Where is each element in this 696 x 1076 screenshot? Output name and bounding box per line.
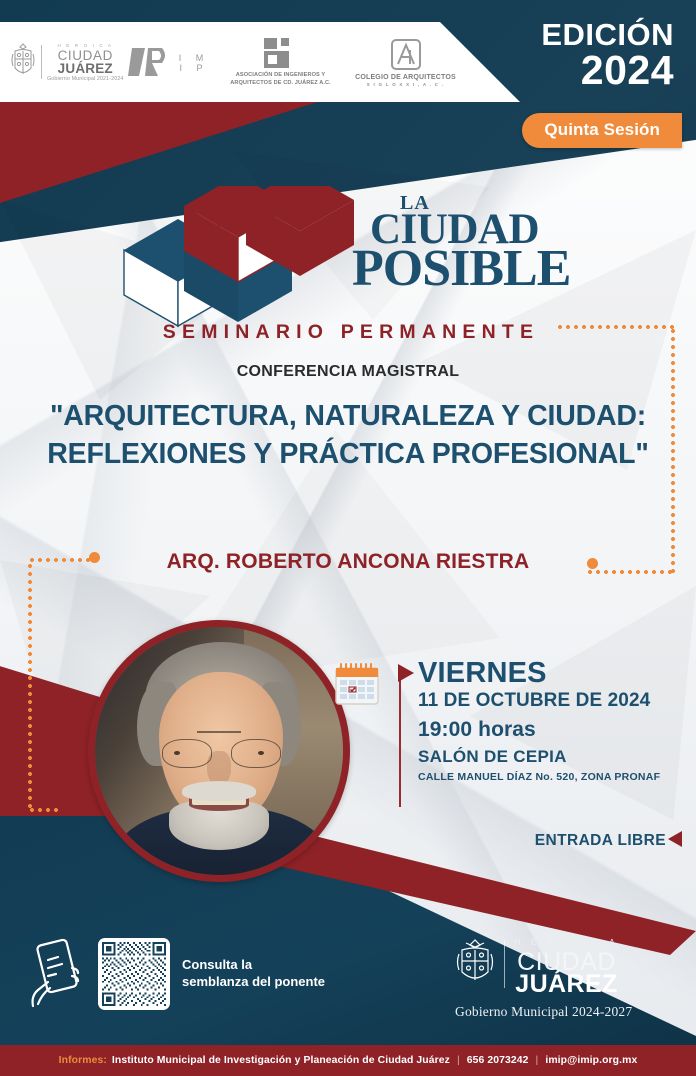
event-time: 19:00 horas — [418, 718, 660, 742]
admission-label: ENTRADA LIBRE — [535, 832, 666, 850]
event-day: VIERNES — [418, 658, 660, 688]
contact-phone[interactable]: 656 2073242 — [467, 1055, 529, 1066]
event-venue: SALÓN DE CEPIA — [418, 747, 660, 767]
partner-logos: H E R O I C A CIUDAD JUÁREZ Gobierno Mun… — [0, 22, 470, 102]
conference-title: "ARQUITECTURA, NATURALEZA Y CIUDAD: REFL… — [40, 398, 656, 474]
logo-divider — [41, 45, 42, 79]
footer-juarez-label: JUÁREZ — [514, 972, 618, 997]
details-vertical-rule — [399, 672, 401, 807]
logo-asociacion-line2: ARQUITECTOS DE CD. JUÁREZ A.C. — [230, 80, 331, 86]
logo-asociacion-line1: ASOCIACIÓN DE INGENIEROS Y — [236, 72, 326, 78]
footer-gobierno-label: Gobierno Municipal 2024-2027 — [455, 1004, 632, 1020]
logo-imip: I M I P — [128, 45, 213, 79]
cubes-logo-icon — [118, 186, 368, 331]
logo-gobierno-juarez: H E R O I C A CIUDAD JUÁREZ Gobierno Mun… — [10, 42, 128, 83]
city-crest-icon — [10, 42, 36, 82]
dot-marker-right — [587, 558, 598, 569]
organization-name: Instituto Municipal de Investigación y P… — [112, 1055, 450, 1066]
brand-wordmark: LA CIUDAD POSIBLE — [370, 192, 570, 292]
colegio-mark-icon — [390, 38, 422, 71]
separator: | — [536, 1055, 539, 1066]
hand-holding-phone-icon — [28, 938, 86, 1010]
contact-bar: Informes: Instituto Municipal de Investi… — [0, 1045, 696, 1076]
dotted-line-left-vertical — [28, 562, 32, 812]
imip-mark-icon — [128, 45, 170, 79]
qr-caption: Consulta la semblanza del ponente — [182, 957, 325, 990]
calendar-icon — [334, 662, 380, 706]
logo-colegio-line1: COLEGIO DE ARQUITECTOS — [355, 74, 456, 81]
footer-heroica-label: H E R O I C A — [514, 938, 618, 947]
logo-imip-letters: I M I P — [170, 53, 213, 73]
contact-email[interactable]: imip@imip.org.mx — [545, 1055, 637, 1066]
qr-code-icon — [102, 942, 166, 1006]
triangle-marker-icon — [398, 664, 416, 686]
dot-marker-left — [89, 552, 100, 563]
session-badge[interactable]: Quinta Sesión — [522, 113, 682, 148]
event-date: 11 DE OCTUBRE DE 2024 — [418, 690, 660, 712]
logo-colegio-arquitectos: COLEGIO DE ARQUITECTOS S I G L O X X I ,… — [348, 38, 463, 87]
logo-asociacion-ingenieros: ASOCIACIÓN DE INGENIEROS Y ARQUITECTOS D… — [213, 37, 348, 87]
event-address: CALLE MANUEL DÍAZ No. 520, ZONA PRONAF — [418, 771, 660, 783]
brand-posible: POSIBLE — [352, 246, 570, 293]
logo-asociacion-text: ASOCIACIÓN DE INGENIEROS Y ARQUITECTOS D… — [230, 72, 331, 87]
qr-code[interactable] — [98, 938, 170, 1010]
qr-caption-line2: semblanza del ponente — [182, 974, 325, 989]
event-details: VIERNES 11 DE OCTUBRE DE 2024 19:00 hora… — [418, 658, 660, 783]
footer-government-logo: H E R O I C A CIUDAD JUÁREZ — [455, 938, 619, 997]
edicion-block: EDICIÓN 2024 — [541, 20, 674, 90]
logo-divider — [504, 940, 505, 988]
brand-logo: LA CIUDAD POSIBLE — [118, 186, 578, 336]
informes-label: Informes: — [59, 1055, 107, 1066]
triangle-marker-left-icon — [668, 831, 682, 849]
logo-juarez-label: JUÁREZ — [47, 62, 124, 76]
poster-root: H E R O I C A CIUDAD JUÁREZ Gobierno Mun… — [0, 0, 696, 1076]
edicion-year: 2024 — [541, 51, 674, 90]
logo-gobierno-label: Gobierno Municipal 2021-2024 — [47, 77, 124, 82]
dotted-line-left-bottom — [28, 808, 58, 812]
logo-colegio-line2: S I G L O X X I , A . C . — [367, 82, 444, 87]
qr-section[interactable]: Consulta la semblanza del ponente — [28, 938, 325, 1010]
city-crest-icon — [455, 938, 495, 990]
qr-caption-line1: Consulta la — [182, 957, 252, 972]
edicion-label: EDICIÓN — [541, 20, 674, 49]
seminario-subtitle: SEMINARIO PERMANENTE — [0, 321, 696, 344]
separator: | — [457, 1055, 460, 1066]
asociacion-mark-icon — [262, 37, 300, 69]
conferencia-kicker: CONFERENCIA MAGISTRAL — [0, 363, 696, 381]
speaker-portrait — [88, 620, 350, 882]
